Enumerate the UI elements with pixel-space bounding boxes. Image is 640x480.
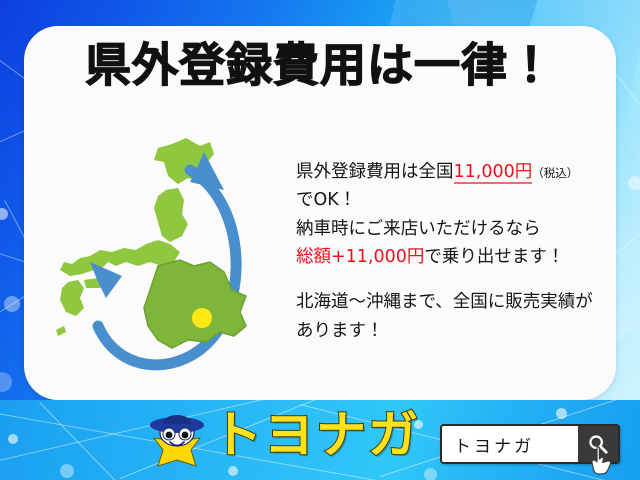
price-highlight: 11,000円 xyxy=(454,162,533,184)
mascot-pupil-right xyxy=(182,432,189,439)
mascot-pupil-left xyxy=(166,432,173,439)
page-title: 県外登録費用は一律！ xyxy=(24,42,616,88)
copy-line-1-pre: 県外登録費用は全国 xyxy=(296,162,454,182)
okinawa-shape xyxy=(56,326,66,336)
copy-line-5: 北海道～沖縄まで、全国に販売実績が xyxy=(296,288,626,316)
copy-line-2: でOK！ xyxy=(296,186,626,214)
network-dot xyxy=(8,434,18,444)
copy-line-3: 納車時にご来店いただけるなら xyxy=(296,215,626,243)
location-marker xyxy=(192,308,212,328)
network-dot xyxy=(4,296,20,312)
copy-line-4: 総額+11,000円で乗り出せます！ xyxy=(296,243,626,271)
network-dot xyxy=(556,408,567,419)
total-price-highlight: 総額+11,000円 xyxy=(296,247,424,267)
brand-logotype: トヨナガ xyxy=(212,410,420,460)
network-dot xyxy=(424,468,437,480)
network-dot xyxy=(628,176,640,190)
search-input[interactable]: トヨナガ xyxy=(442,426,578,462)
body-copy: 県外登録費用は全国11,000円（税込） でOK！ 納車時にご来店いただけるなら… xyxy=(296,158,626,345)
japan-map-illustration xyxy=(54,130,282,400)
tax-note: （税込） xyxy=(532,166,578,180)
content-card: 県外登録費用は一律！ xyxy=(24,26,616,400)
network-dot xyxy=(0,372,12,392)
network-dot xyxy=(228,466,238,476)
copy-spacer xyxy=(296,271,626,288)
promo-banner: 県外登録費用は一律！ xyxy=(0,0,640,480)
kyushu-shape xyxy=(60,280,84,316)
search-input-value: トヨナガ xyxy=(454,432,534,457)
network-dot xyxy=(60,464,74,478)
honshu-north-shape xyxy=(154,188,188,242)
copy-line-4-rest: で乗り出せます！ xyxy=(424,247,564,267)
copy-line-1: 県外登録費用は全国11,000円（税込） xyxy=(296,158,626,186)
mascot-hat-crown xyxy=(163,415,191,424)
hand-pointer-icon xyxy=(590,446,616,476)
copy-line-6: あります！ xyxy=(296,317,626,345)
network-dot xyxy=(0,208,8,220)
mascot-icon xyxy=(146,406,208,476)
